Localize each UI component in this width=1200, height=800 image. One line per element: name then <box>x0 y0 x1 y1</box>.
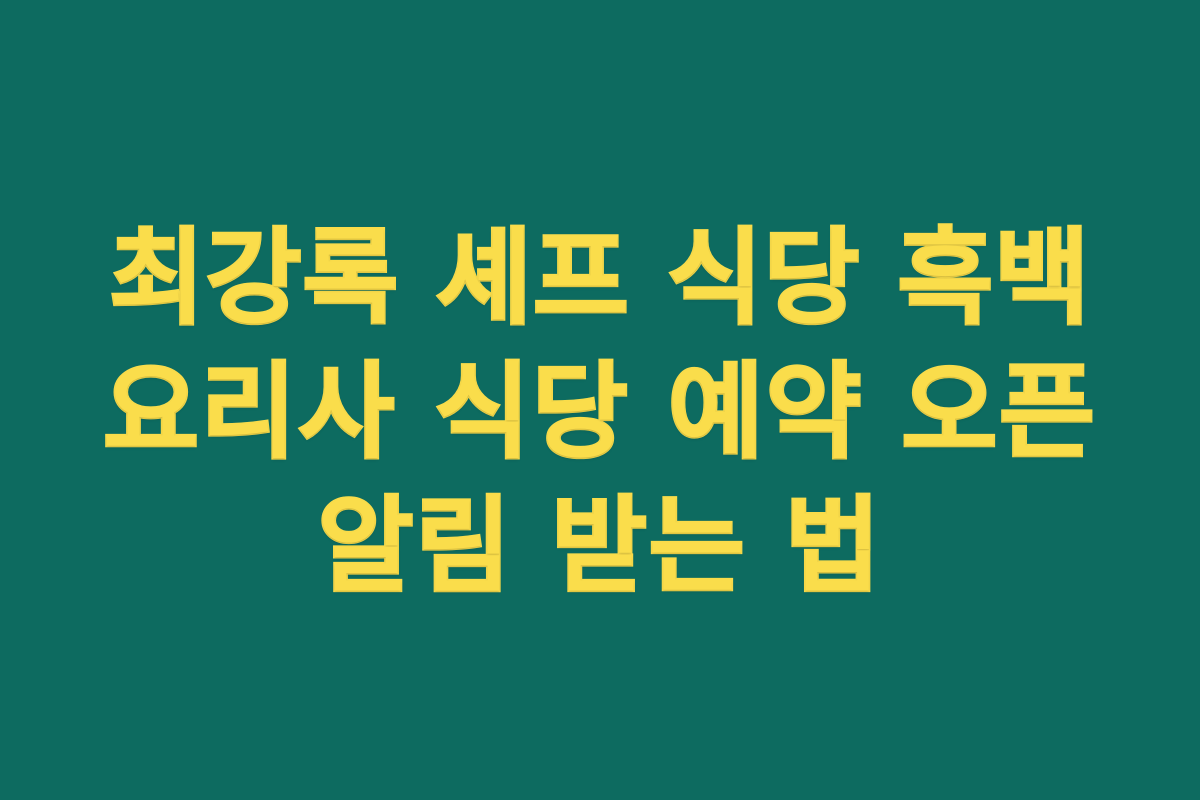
thumbnail-canvas: 최강록 셰프 식당 흑백 요리사 식당 예약 오픈 알림 받는 법 <box>0 0 1200 800</box>
headline-line-1: 최강록 셰프 식당 흑백 <box>50 211 1150 345</box>
headline-line-3: 알림 받는 법 <box>50 479 1150 613</box>
headline-block: 최강록 셰프 식당 흑백 요리사 식당 예약 오픈 알림 받는 법 <box>50 211 1150 613</box>
headline-line-2: 요리사 식당 예약 오픈 <box>50 345 1150 479</box>
